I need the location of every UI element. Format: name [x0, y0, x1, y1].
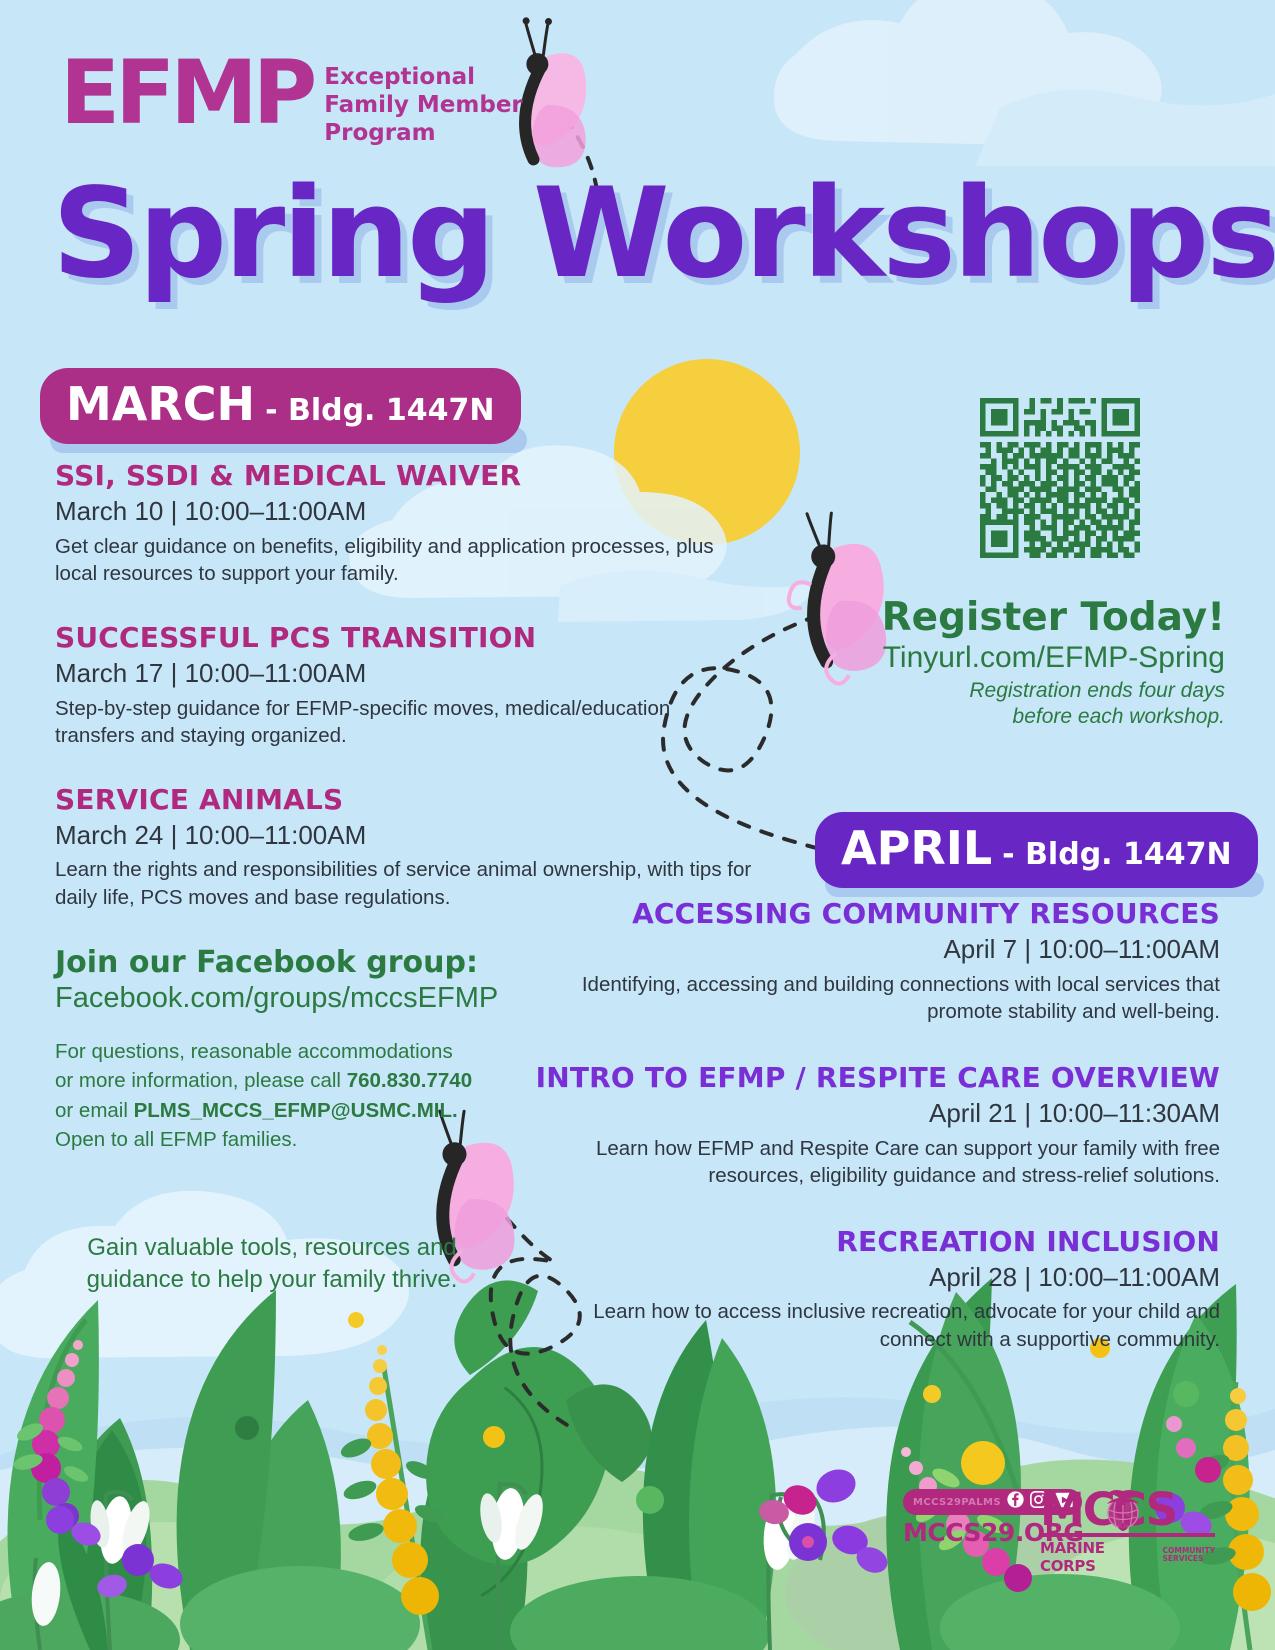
register-block: Register Today! Tinyurl.com/EFMP-Spring …: [705, 598, 1225, 729]
workshop-datetime: April 28 | 10:00–11:00AM: [530, 1261, 1220, 1294]
workshop-datetime: March 17 | 10:00–11:00AM: [55, 657, 755, 690]
april-workshop-list: ACCESSING COMMUNITY RESOURCES April 7 | …: [530, 898, 1220, 1383]
tagline-line-1: Gain valuable tools, resources and: [62, 1232, 482, 1264]
workshop-datetime: March 24 | 10:00–11:00AM: [55, 819, 755, 852]
workshop-item: INTRO TO EFMP / RESPITE CARE OVERVIEW Ap…: [530, 1062, 1220, 1190]
eagle-globe-anchor-icon: [1098, 1483, 1148, 1540]
contact-line-3: or email PLMS_MCCS_EFMP@USMC.MIL.: [55, 1096, 615, 1125]
register-url[interactable]: Tinyurl.com/EFMP-Spring: [705, 641, 1225, 674]
page-title: Spring Workshops: [52, 172, 1275, 296]
efmp-expansion-line-3: Program: [324, 119, 522, 147]
efmp-logo-expansion: Exceptional Family Member Program: [324, 63, 522, 147]
efmp-expansion-line-1: Exceptional: [324, 63, 522, 91]
facebook-contact-block: Join our Facebook group: Facebook.com/gr…: [55, 945, 615, 1154]
workshop-item: SERVICE ANIMALS March 24 | 10:00–11:00AM…: [55, 784, 755, 912]
tagline-line-2: guidance to help your family thrive.: [62, 1264, 482, 1296]
workshop-datetime: March 10 | 10:00–11:00AM: [55, 495, 755, 528]
workshop-datetime: April 21 | 10:00–11:30AM: [530, 1097, 1220, 1130]
mccs-tagline-main: MARINE CORPS: [1040, 1539, 1156, 1575]
workshop-item: SUCCESSFUL PCS TRANSITION March 17 | 10:…: [55, 622, 755, 750]
mccs-logo-tagline: MARINE CORPS COMMUNITY SERVICES: [1040, 1539, 1215, 1575]
mccs-tagline-sub: COMMUNITY SERVICES: [1162, 1547, 1215, 1563]
workshop-title: ACCESSING COMMUNITY RESOURCES: [530, 898, 1220, 929]
workshop-title: SERVICE ANIMALS: [55, 784, 755, 815]
poster: EFMP Exceptional Family Member Program S…: [0, 0, 1275, 1650]
workshop-description: Learn how to access inclusive recreation…: [530, 1298, 1220, 1353]
workshop-title: SUCCESSFUL PCS TRANSITION: [55, 622, 755, 653]
contact-email[interactable]: PLMS_MCCS_EFMP@USMC.MIL.: [134, 1099, 458, 1122]
contact-phone[interactable]: 760.830.7740: [347, 1069, 472, 1092]
march-month-badge: MARCH - Bldg. 1447N: [40, 368, 521, 444]
efmp-logo-word: EFMP: [60, 55, 312, 131]
efmp-logo: EFMP Exceptional Family Member Program: [60, 55, 523, 147]
workshop-item: RECREATION INCLUSION April 28 | 10:00–11…: [530, 1226, 1220, 1354]
tagline: Gain valuable tools, resources and guida…: [62, 1232, 482, 1295]
march-building-label: - Bldg. 1447N: [265, 393, 494, 428]
workshop-title: SSI, SSDI & MEDICAL WAIVER: [55, 460, 755, 491]
mccs-logo-text: MCCS: [1040, 1487, 1215, 1532]
register-note-line-1: Registration ends four days: [705, 678, 1225, 704]
workshop-title: RECREATION INCLUSION: [530, 1226, 1220, 1257]
facebook-icon[interactable]: [1007, 1491, 1024, 1513]
mccs-tagline-sub-2: SERVICES: [1162, 1555, 1215, 1563]
workshop-title: INTRO TO EFMP / RESPITE CARE OVERVIEW: [530, 1062, 1220, 1093]
registration-qr-code[interactable]: [980, 398, 1140, 558]
workshop-description: Learn how EFMP and Respite Care can supp…: [530, 1135, 1220, 1190]
efmp-expansion-line-2: Family Member: [324, 91, 522, 119]
contact-line-3-text: or email: [55, 1099, 134, 1122]
march-month-label: MARCH: [66, 377, 255, 431]
contact-info: For questions, reasonable accommodations…: [55, 1037, 615, 1153]
workshop-item: ACCESSING COMMUNITY RESOURCES April 7 | …: [530, 898, 1220, 1026]
april-building-label: - Bldg. 1447N: [1002, 837, 1231, 872]
register-note-line-2: before each workshop.: [705, 704, 1225, 730]
contact-line-2-text: or more information, please call: [55, 1069, 347, 1092]
facebook-url[interactable]: Facebook.com/groups/mccsEFMP: [55, 982, 615, 1015]
contact-line-1: For questions, reasonable accommodations: [55, 1037, 615, 1066]
workshop-description: Get clear guidance on benefits, eligibil…: [55, 533, 755, 588]
workshop-description: Step-by-step guidance for EFMP-specific …: [55, 695, 755, 750]
register-heading: Register Today!: [705, 598, 1225, 639]
workshop-item: SSI, SSDI & MEDICAL WAIVER March 10 | 10…: [55, 460, 755, 588]
social-handle-label: MCCS29PALMS: [913, 1497, 1001, 1508]
april-month-label: APRIL: [841, 821, 992, 875]
contact-line-4: Open to all EFMP families.: [55, 1125, 615, 1154]
march-workshop-list: SSI, SSDI & MEDICAL WAIVER March 10 | 10…: [55, 460, 755, 941]
register-note: Registration ends four days before each …: [705, 678, 1225, 729]
workshop-datetime: April 7 | 10:00–11:00AM: [530, 933, 1220, 966]
workshop-description: Identifying, accessing and building conn…: [530, 971, 1220, 1026]
facebook-heading: Join our Facebook group:: [55, 945, 615, 980]
contact-line-2: or more information, please call 760.830…: [55, 1066, 615, 1095]
april-month-badge: APRIL - Bldg. 1447N: [815, 812, 1258, 888]
mccs-logo: MCCS MARINE CORPS COMMUNITY SERVICES: [1040, 1487, 1215, 1575]
